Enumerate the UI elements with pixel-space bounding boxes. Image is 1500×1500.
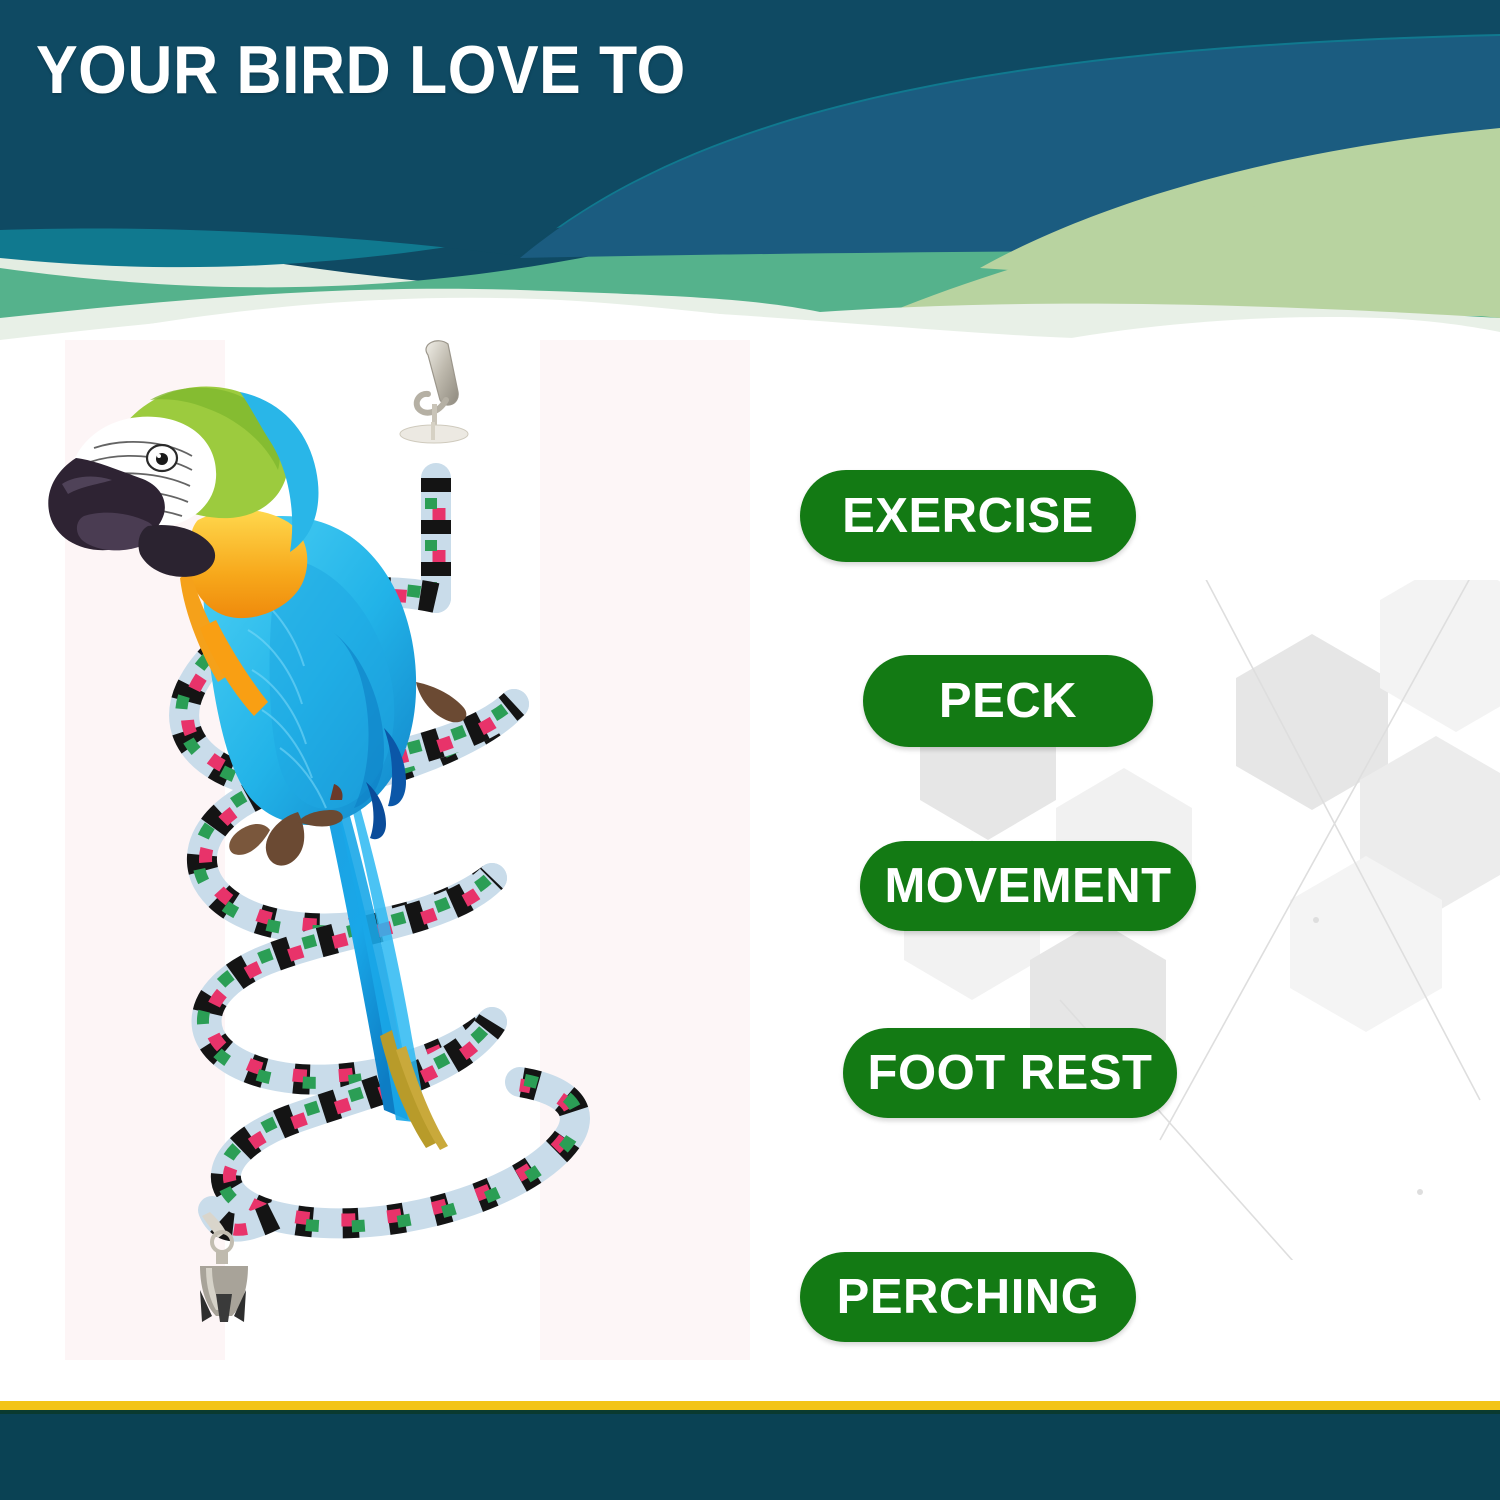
bird-foot-right (416, 682, 466, 722)
macaw-bird (48, 387, 466, 1150)
product-image (40, 330, 800, 1370)
rope-segment-top (431, 478, 439, 598)
benefit-pill-movement[interactable]: MOVEMENT (860, 841, 1196, 931)
hook-pin (431, 422, 435, 440)
benefit-pill-label: PECK (939, 673, 1077, 729)
benefit-pill-foot-rest[interactable]: FOOT REST (843, 1028, 1177, 1118)
diagonal-line (1160, 580, 1480, 1140)
benefit-pill-label: EXERCISE (842, 488, 1094, 544)
hexagon-icon (1380, 580, 1500, 732)
benefit-pill-label: PERCHING (837, 1269, 1100, 1325)
hook-icon (426, 341, 458, 405)
product-illustration (40, 330, 800, 1370)
page-title: YOUR BIRD LOVE TO (36, 36, 686, 104)
hexagon-icon (1290, 856, 1442, 1032)
footer-band (0, 1414, 1500, 1500)
bell-stem (216, 1250, 228, 1264)
bird-eye-glint (157, 454, 161, 458)
benefit-pill-exercise[interactable]: EXERCISE (800, 470, 1136, 562)
bell-clapper (216, 1294, 232, 1322)
line-node-dot (1313, 917, 1319, 923)
bird-foot-left (266, 812, 304, 866)
footer-gold-stripe (0, 1401, 1500, 1410)
bird-toe (229, 824, 270, 855)
diagonal-line (1180, 580, 1480, 1100)
benefit-pill-peck[interactable]: PECK (863, 655, 1153, 747)
benefit-pill-label: FOOT REST (868, 1045, 1153, 1101)
hexagon-icon (1236, 634, 1388, 810)
hexagon-icon (1360, 736, 1500, 912)
benefit-pill-perching[interactable]: PERCHING (800, 1252, 1136, 1342)
infographic-page: YOUR BIRD LOVE TO (0, 0, 1500, 1500)
header-banner: YOUR BIRD LOVE TO (0, 0, 1500, 340)
benefit-pill-label: MOVEMENT (884, 858, 1171, 914)
line-node-dot (1417, 1189, 1423, 1195)
hanging-hook (400, 341, 468, 443)
